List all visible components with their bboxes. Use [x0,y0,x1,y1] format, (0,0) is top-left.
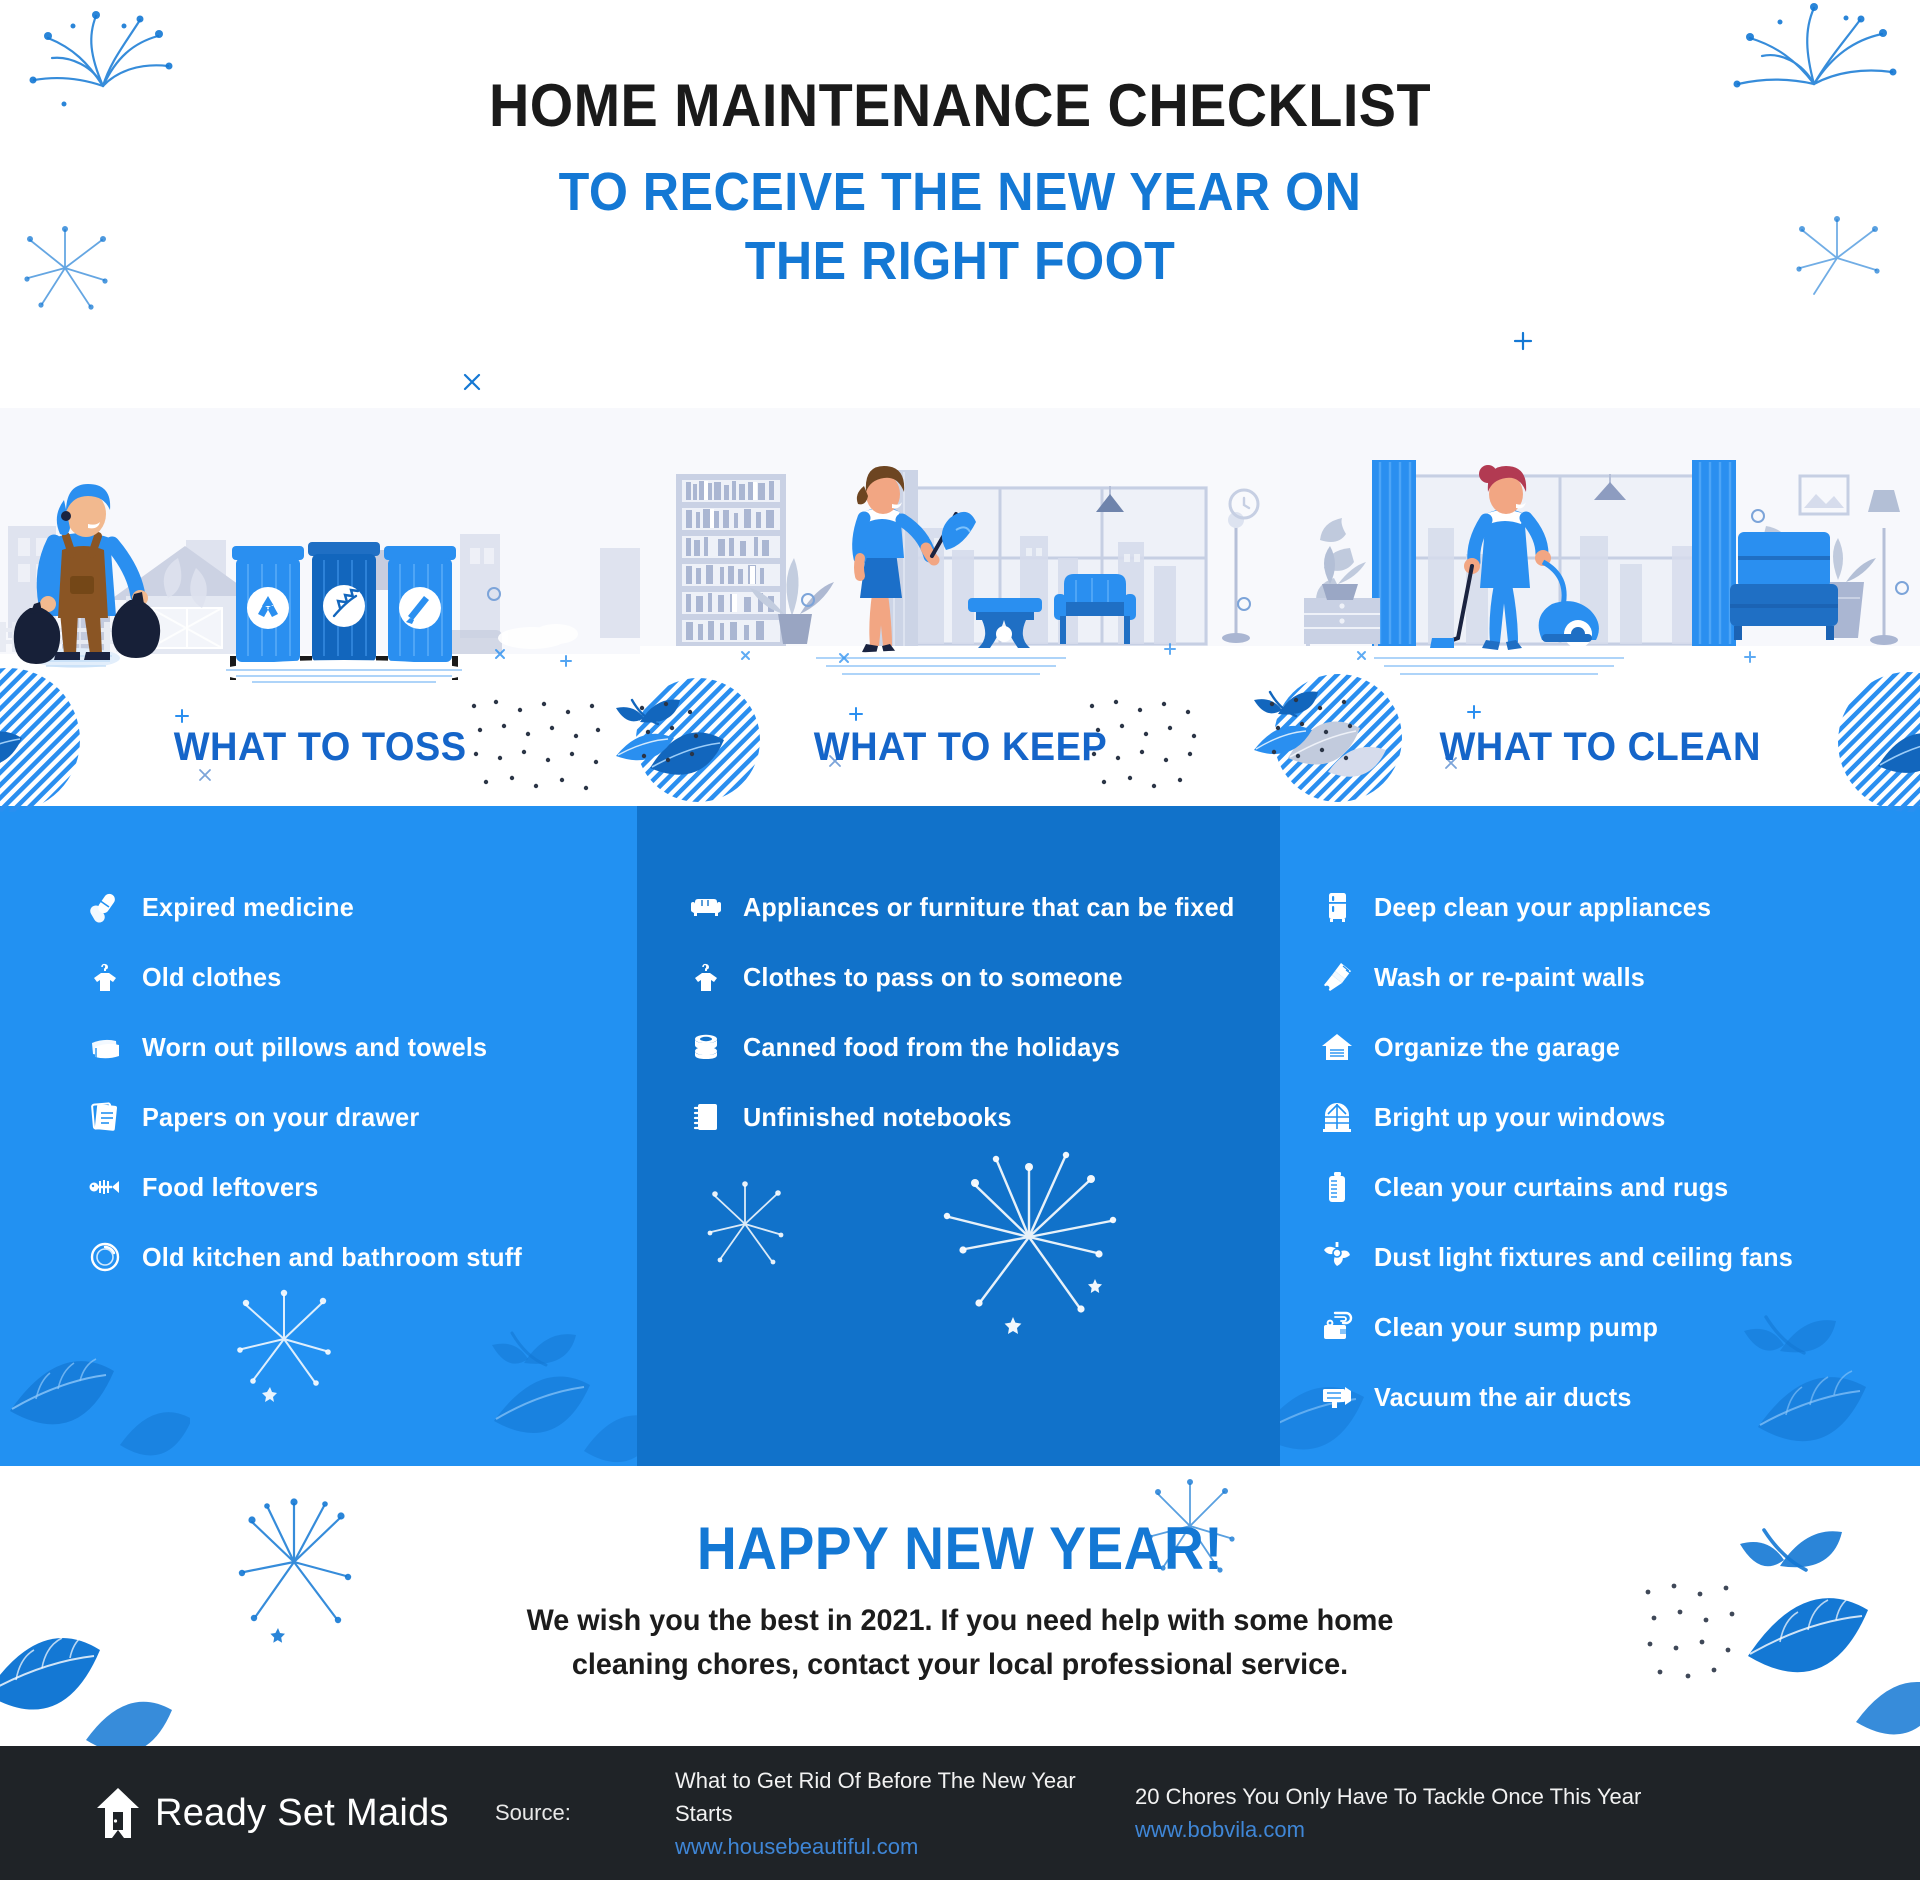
list-item-label: Worn out pillows and towels [142,1032,487,1063]
leaf-decoration [464,1301,637,1466]
notebook-icon [689,1100,723,1134]
spray-bottle-icon [1320,1170,1354,1204]
illustration-strip [0,408,1920,688]
column-what-to-keep: Appliances or furniture that can be fixe… [637,806,1280,1466]
list-item[interactable]: Wash or re-paint walls [1280,960,1920,994]
source-entry-2: 20 Chores You Only Have To Tackle Once T… [1135,1780,1695,1846]
column-heading-clean: WHAT TO CLEAN [1439,725,1760,770]
title-block: HOME MAINTENANCE CHECKLIST TO RECEIVE TH… [0,0,1920,295]
papers-icon [88,1100,122,1134]
list-item-label: Old clothes [142,962,281,993]
checklist-columns: Expired medicine Old clothes [0,806,1920,1466]
pillows-towels-icon [88,1030,122,1064]
woman-dusting-living-room-illustration [640,408,1280,688]
shirt-hanger-icon [689,960,723,994]
list-item[interactable]: Food leftovers [0,1170,637,1204]
column-heading-toss: WHAT TO TOSS [174,725,467,770]
list-item[interactable]: Canned food from the holidays [637,1030,1280,1064]
heading-cell-keep: WHAT TO KEEP [640,688,1280,806]
list-item[interactable]: Unfinished notebooks [637,1100,1280,1134]
list-item[interactable]: Papers on your drawer [0,1100,637,1134]
paint-brush-icon [1320,960,1354,994]
source-title: What to Get Rid Of Before The New Year S… [675,1764,1135,1830]
plus-marker-icon [1512,330,1534,352]
list-item[interactable]: Old kitchen and bathroom stuff [0,1240,637,1274]
list-what-to-clean: Deep clean your appliances Wash or re-pa… [1280,890,1920,1414]
sump-pump-icon [1320,1310,1354,1344]
list-item[interactable]: Organize the garage [1280,1030,1920,1064]
list-item-label: Unfinished notebooks [743,1102,1012,1133]
list-item-label: Deep clean your appliances [1374,892,1711,923]
heading-cell-clean: WHAT TO CLEAN [1280,688,1920,806]
list-item[interactable]: Deep clean your appliances [1280,890,1920,924]
sofa [1730,532,1838,640]
list-item[interactable]: Bright up your windows [1280,1100,1920,1134]
column-what-to-toss: Expired medicine Old clothes [0,806,637,1466]
list-item-label: Canned food from the holidays [743,1032,1120,1063]
list-what-to-toss: Expired medicine Old clothes [0,890,637,1274]
air-duct-icon [1320,1380,1354,1414]
dot-grid-decoration [466,696,606,801]
list-item[interactable]: Appliances or furniture that can be fixe… [637,890,1280,924]
list-item[interactable]: Vacuum the air ducts [1280,1380,1920,1414]
list-item-label: Vacuum the air ducts [1374,1382,1632,1413]
brand-block[interactable]: Ready Set Maids [95,1786,495,1840]
fish-bone-icon [88,1170,122,1204]
list-item-label: Food leftovers [142,1172,318,1203]
list-what-to-keep: Appliances or furniture that can be fixe… [637,890,1280,1134]
list-item-label: Organize the garage [1374,1032,1620,1063]
leaf-blob-decoration [1824,666,1920,821]
list-item-label: Expired medicine [142,892,354,923]
dot-grid-decoration [1264,694,1374,789]
list-item[interactable]: Expired medicine [0,890,637,924]
list-item[interactable]: Clothes to pass on to someone [637,960,1280,994]
source-label: Source: [495,1800,675,1826]
scene-what-to-clean [1280,408,1920,688]
list-item-label: Clean your sump pump [1374,1312,1658,1343]
wishes-line1: We wish you the best in 2021. If you nee… [38,1599,1881,1643]
garage-icon [1320,1030,1354,1064]
dot-grid-decoration [634,698,724,793]
list-item[interactable]: Worn out pillows and towels [0,1030,637,1064]
list-item-label: Clean your curtains and rugs [1374,1172,1728,1203]
page-title: HOME MAINTENANCE CHECKLIST [67,72,1853,139]
list-item-label: Papers on your drawer [142,1102,419,1133]
footer-bar: Ready Set Maids Source: What to Get Rid … [0,1746,1920,1880]
cross-marker-icon [462,372,482,392]
page-subtitle-line2: THE RIGHT FOOT [67,228,1853,295]
column-what-to-clean: Deep clean your appliances Wash or re-pa… [1280,806,1920,1466]
infographic-page: HOME MAINTENANCE CHECKLIST TO RECEIVE TH… [0,0,1920,1880]
source-link[interactable]: www.bobvila.com [1135,1813,1695,1846]
canned-food-icon [689,1030,723,1064]
heading-cell-toss: WHAT TO TOSS [0,688,640,806]
list-item[interactable]: Dust light fixtures and ceiling fans [1280,1240,1920,1274]
column-headings: WHAT TO TOSS [0,688,1920,806]
brand-name: Ready Set Maids [155,1792,449,1835]
column-heading-keep: WHAT TO KEEP [813,725,1107,770]
header-section: HOME MAINTENANCE CHECKLIST TO RECEIVE TH… [0,0,1920,420]
cross-marker-icon [198,768,212,787]
wishes-title: HAPPY NEW YEAR! [77,1466,1843,1583]
list-item-label: Old kitchen and bathroom stuff [142,1242,522,1273]
window-icon [1320,1100,1354,1134]
plus-marker-icon [1466,704,1482,725]
scene-what-to-keep [640,408,1280,688]
source-entry-1: What to Get Rid Of Before The New Year S… [675,1764,1135,1863]
page-subtitle-line1: TO RECEIVE THE NEW YEAR ON [67,159,1853,226]
sofa-icon [689,890,723,924]
wishes-section: HAPPY NEW YEAR! We wish you the best in … [0,1466,1920,1746]
firework-decoration [917,1131,1147,1356]
firework-decoration [685,1166,805,1286]
ceiling-fan-icon [1320,1240,1354,1274]
pills-icon [88,890,122,924]
refrigerator-icon [1320,890,1354,924]
list-item-label: Bright up your windows [1374,1102,1665,1133]
list-item-label: Appliances or furniture that can be fixe… [743,892,1234,923]
list-item[interactable]: Old clothes [0,960,637,994]
list-item-label: Wash or re-paint walls [1374,962,1645,993]
list-item[interactable]: Clean your sump pump [1280,1310,1920,1344]
list-item-label: Dust light fixtures and ceiling fans [1374,1242,1793,1273]
source-link[interactable]: www.housebeautiful.com [675,1830,1135,1863]
woman-vacuuming-living-room-illustration [1280,408,1920,688]
scene-what-to-toss [0,408,640,688]
firework-decoration [210,1269,360,1414]
shirt-hanger-icon [88,960,122,994]
list-item-label: Clothes to pass on to someone [743,962,1123,993]
leaf-decoration [0,1281,190,1466]
recycling-bins [230,542,458,680]
man-with-trash-bags-and-bins-illustration [0,408,640,688]
wishes-line2: cleaning chores, contact your local prof… [38,1643,1881,1687]
house-logo-icon [95,1786,141,1840]
list-item[interactable]: Clean your curtains and rugs [1280,1170,1920,1204]
plate-icon [88,1240,122,1274]
source-title: 20 Chores You Only Have To Tackle Once T… [1135,1780,1695,1813]
